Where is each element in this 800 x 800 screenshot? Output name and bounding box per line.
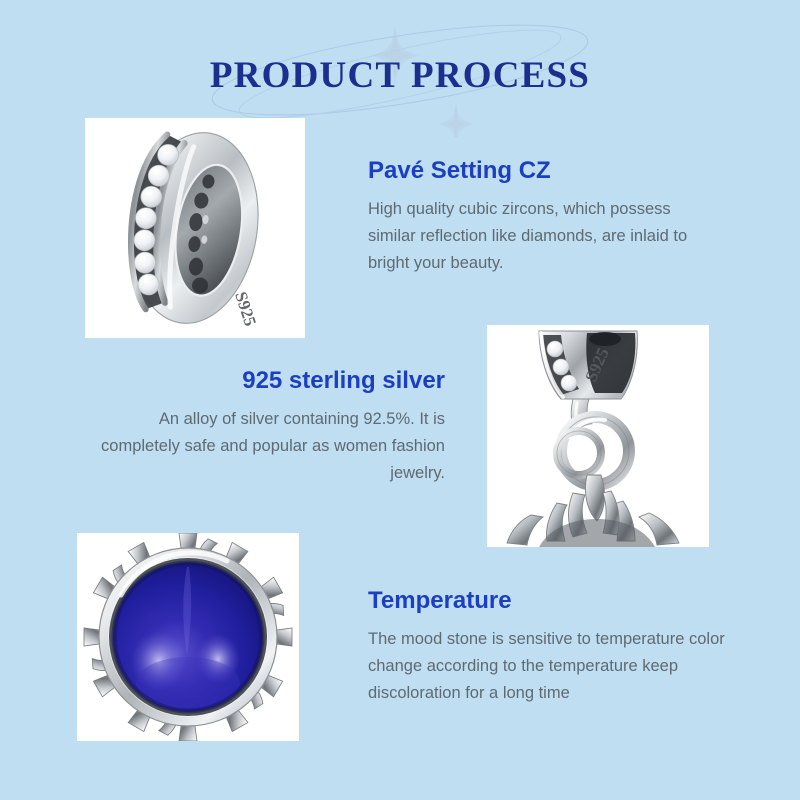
mood-stone-illustration [77,533,299,741]
mood-stone-photo [77,533,299,741]
section-pave-body: High quality cubic zircons, which posses… [368,196,720,276]
section-temperature-heading: Temperature [368,588,728,614]
section-temperature-body: The mood stone is sensitive to temperatu… [368,626,728,706]
section-silver-body: An alloy of silver containing 92.5%. It … [100,406,445,486]
page-title: PRODUCT PROCESS [0,54,800,97]
pave-spacer-bead-photo: S925 [85,118,305,338]
section-silver-heading: 925 sterling silver [100,368,445,394]
silver-bail-illustration: S925 [487,325,709,547]
product-process-infographic: PRODUCT PROCESS [0,0,800,800]
bail-body: S925 [539,331,637,399]
section-silver-text: 925 sterling silver An alloy of silver c… [100,368,445,487]
sterling-silver-bail-photo: S925 [487,325,709,547]
section-pave-heading: Pavé Setting CZ [368,158,720,184]
pave-bead-illustration: S925 [85,118,305,338]
section-temperature-text: Temperature The mood stone is sensitive … [368,588,728,707]
sparkle-star-bottom [438,102,474,137]
section-pave-text: Pavé Setting CZ High quality cubic zirco… [368,158,720,277]
